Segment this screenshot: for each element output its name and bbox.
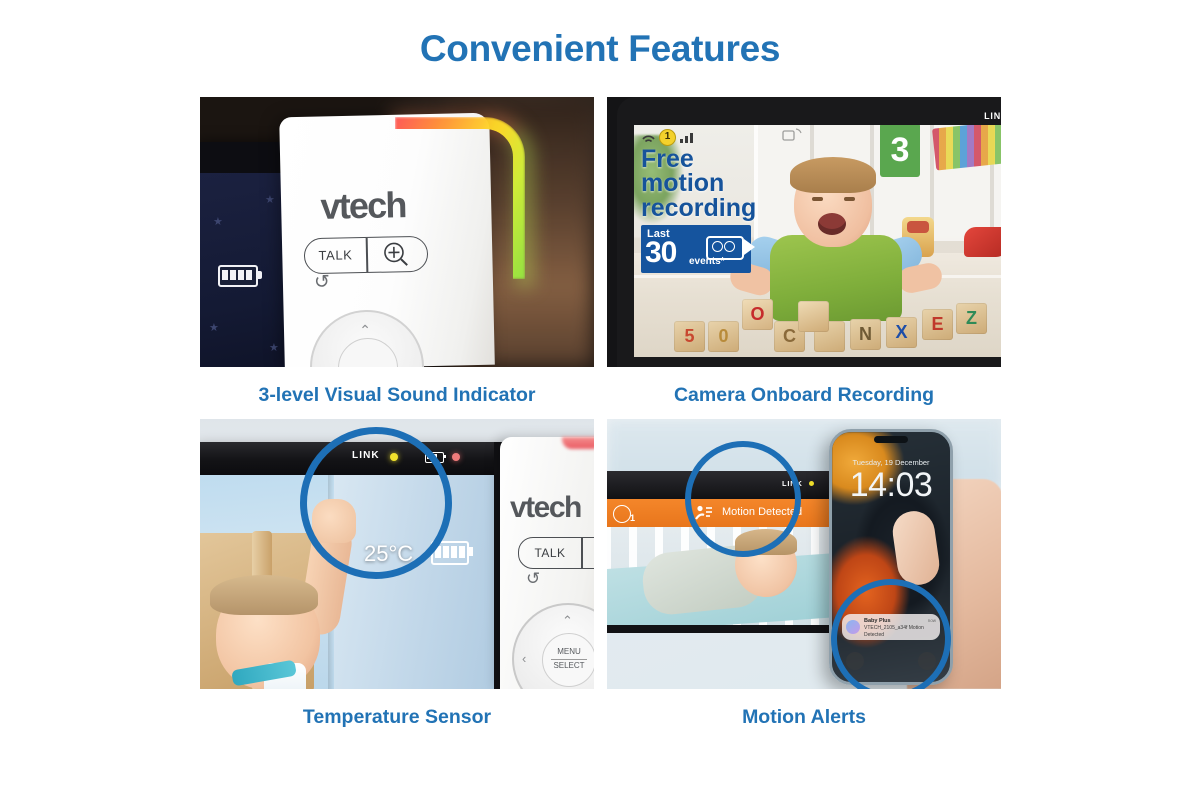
signal-bars-icon [679, 131, 694, 144]
star-icon: ★ [269, 343, 279, 354]
talk-zoom-button-group[interactable]: TALK [518, 537, 594, 569]
red-toy [964, 227, 1001, 257]
talk-button[interactable]: TALK [519, 538, 581, 568]
brand-logo: vtech [510, 491, 581, 525]
alphabet-block: 0 [708, 321, 739, 352]
events-badge: Last 30 events* [641, 225, 751, 273]
alphabet-block: Z [956, 303, 987, 334]
highlight-circle [831, 579, 951, 689]
alphabet-block [798, 301, 829, 332]
zoom-in-button[interactable] [366, 237, 428, 272]
page-title: Convenient Features [0, 28, 1200, 70]
chevron-up-icon[interactable]: ⌃ [562, 613, 573, 629]
feature-card-temperature-sensor: 25°C LINK vtech TALK ↺ [200, 419, 594, 729]
camera-icon [613, 505, 631, 523]
feature-caption: 3-level Visual Sound Indicator [200, 384, 594, 407]
magnifier-plus-icon [366, 237, 428, 272]
talk-zoom-button-group[interactable]: TALK [304, 236, 429, 275]
rainbow-toy [932, 125, 1001, 171]
headline-line-3: recording [641, 196, 756, 220]
feature-image-motion-alerts: LINK 1 Motion Detected [607, 419, 1001, 689]
feature-card-motion-alerts: LINK 1 Motion Detected [607, 419, 1001, 729]
alphabet-blocks: 5 0 O C N X E Z [674, 307, 1001, 355]
baby-mouth [818, 213, 846, 235]
camcorder-icon [706, 236, 744, 260]
alphabet-block: O [742, 299, 773, 330]
divider [581, 538, 583, 568]
star-icon: ★ [213, 217, 223, 228]
feature-caption: Camera Onboard Recording [607, 384, 1001, 407]
feature-caption: Motion Alerts [607, 706, 1001, 729]
feature-image-temperature-sensor: 25°C LINK vtech TALK ↺ [200, 419, 594, 689]
baby-hair [210, 575, 318, 615]
phone-notch [874, 436, 908, 443]
baby-hair [790, 157, 876, 193]
select-button[interactable] [337, 337, 398, 367]
highlight-circle [685, 441, 801, 557]
star-icon: ★ [265, 195, 275, 206]
headline-line-2: motion [641, 171, 756, 195]
highlight-circle [300, 427, 452, 579]
features-grid: ★ ★ ★ ★ ★ ★ ★ ★ vtech TALK [200, 97, 1001, 737]
menu-select-button[interactable]: MENU SELECT [542, 633, 594, 687]
headline: Free motion recording [641, 147, 756, 220]
baby-eye [844, 197, 855, 201]
back-arrow-icon[interactable]: ↺ [314, 271, 330, 294]
baby-eye [812, 197, 823, 201]
talk-button[interactable]: TALK [305, 238, 367, 273]
feature-grid-page: Convenient Features ★ ★ ★ ★ ★ ★ ★ [0, 0, 1200, 800]
alphabet-block: N [850, 319, 881, 350]
alphabet-block: X [886, 317, 917, 348]
alphabet-block: 5 [674, 321, 705, 352]
alphabet-block: E [922, 309, 953, 340]
camera-number-label: 1 [630, 513, 635, 523]
camera-status-group: 1 [641, 129, 694, 146]
events-badge-number: 30 [645, 236, 676, 270]
select-label: SELECT [543, 661, 594, 670]
feature-card-sound-indicator: ★ ★ ★ ★ ★ ★ ★ ★ vtech TALK [200, 97, 594, 407]
chevron-up-icon[interactable]: ⌃ [359, 322, 371, 339]
camera-number-badge: 1 [659, 129, 676, 146]
led-strip-icon [562, 437, 594, 449]
back-arrow-icon[interactable]: ↺ [526, 569, 540, 589]
led-indicator-icon [452, 453, 460, 461]
chevron-left-icon[interactable]: ‹ [522, 651, 526, 666]
star-icon: ★ [209, 323, 219, 334]
baby-subject [764, 161, 914, 321]
link-status-label: LIN [984, 111, 1001, 121]
monitor-signal-icon [782, 127, 802, 143]
led-indicator-icon [809, 481, 814, 486]
feature-image-sound-indicator: ★ ★ ★ ★ ★ ★ ★ ★ vtech TALK [200, 97, 594, 367]
menu-label: MENU [543, 647, 594, 656]
battery-icon [218, 265, 258, 287]
feature-card-onboard-recording: 3 [607, 97, 1001, 407]
lockscreen-time: 14:03 [832, 466, 950, 505]
feature-caption: Temperature Sensor [200, 706, 594, 729]
feature-image-onboard-recording: 3 [607, 97, 1001, 367]
brand-logo: vtech [288, 183, 439, 228]
wifi-icon [641, 131, 656, 145]
headline-line-1: Free [641, 147, 756, 171]
